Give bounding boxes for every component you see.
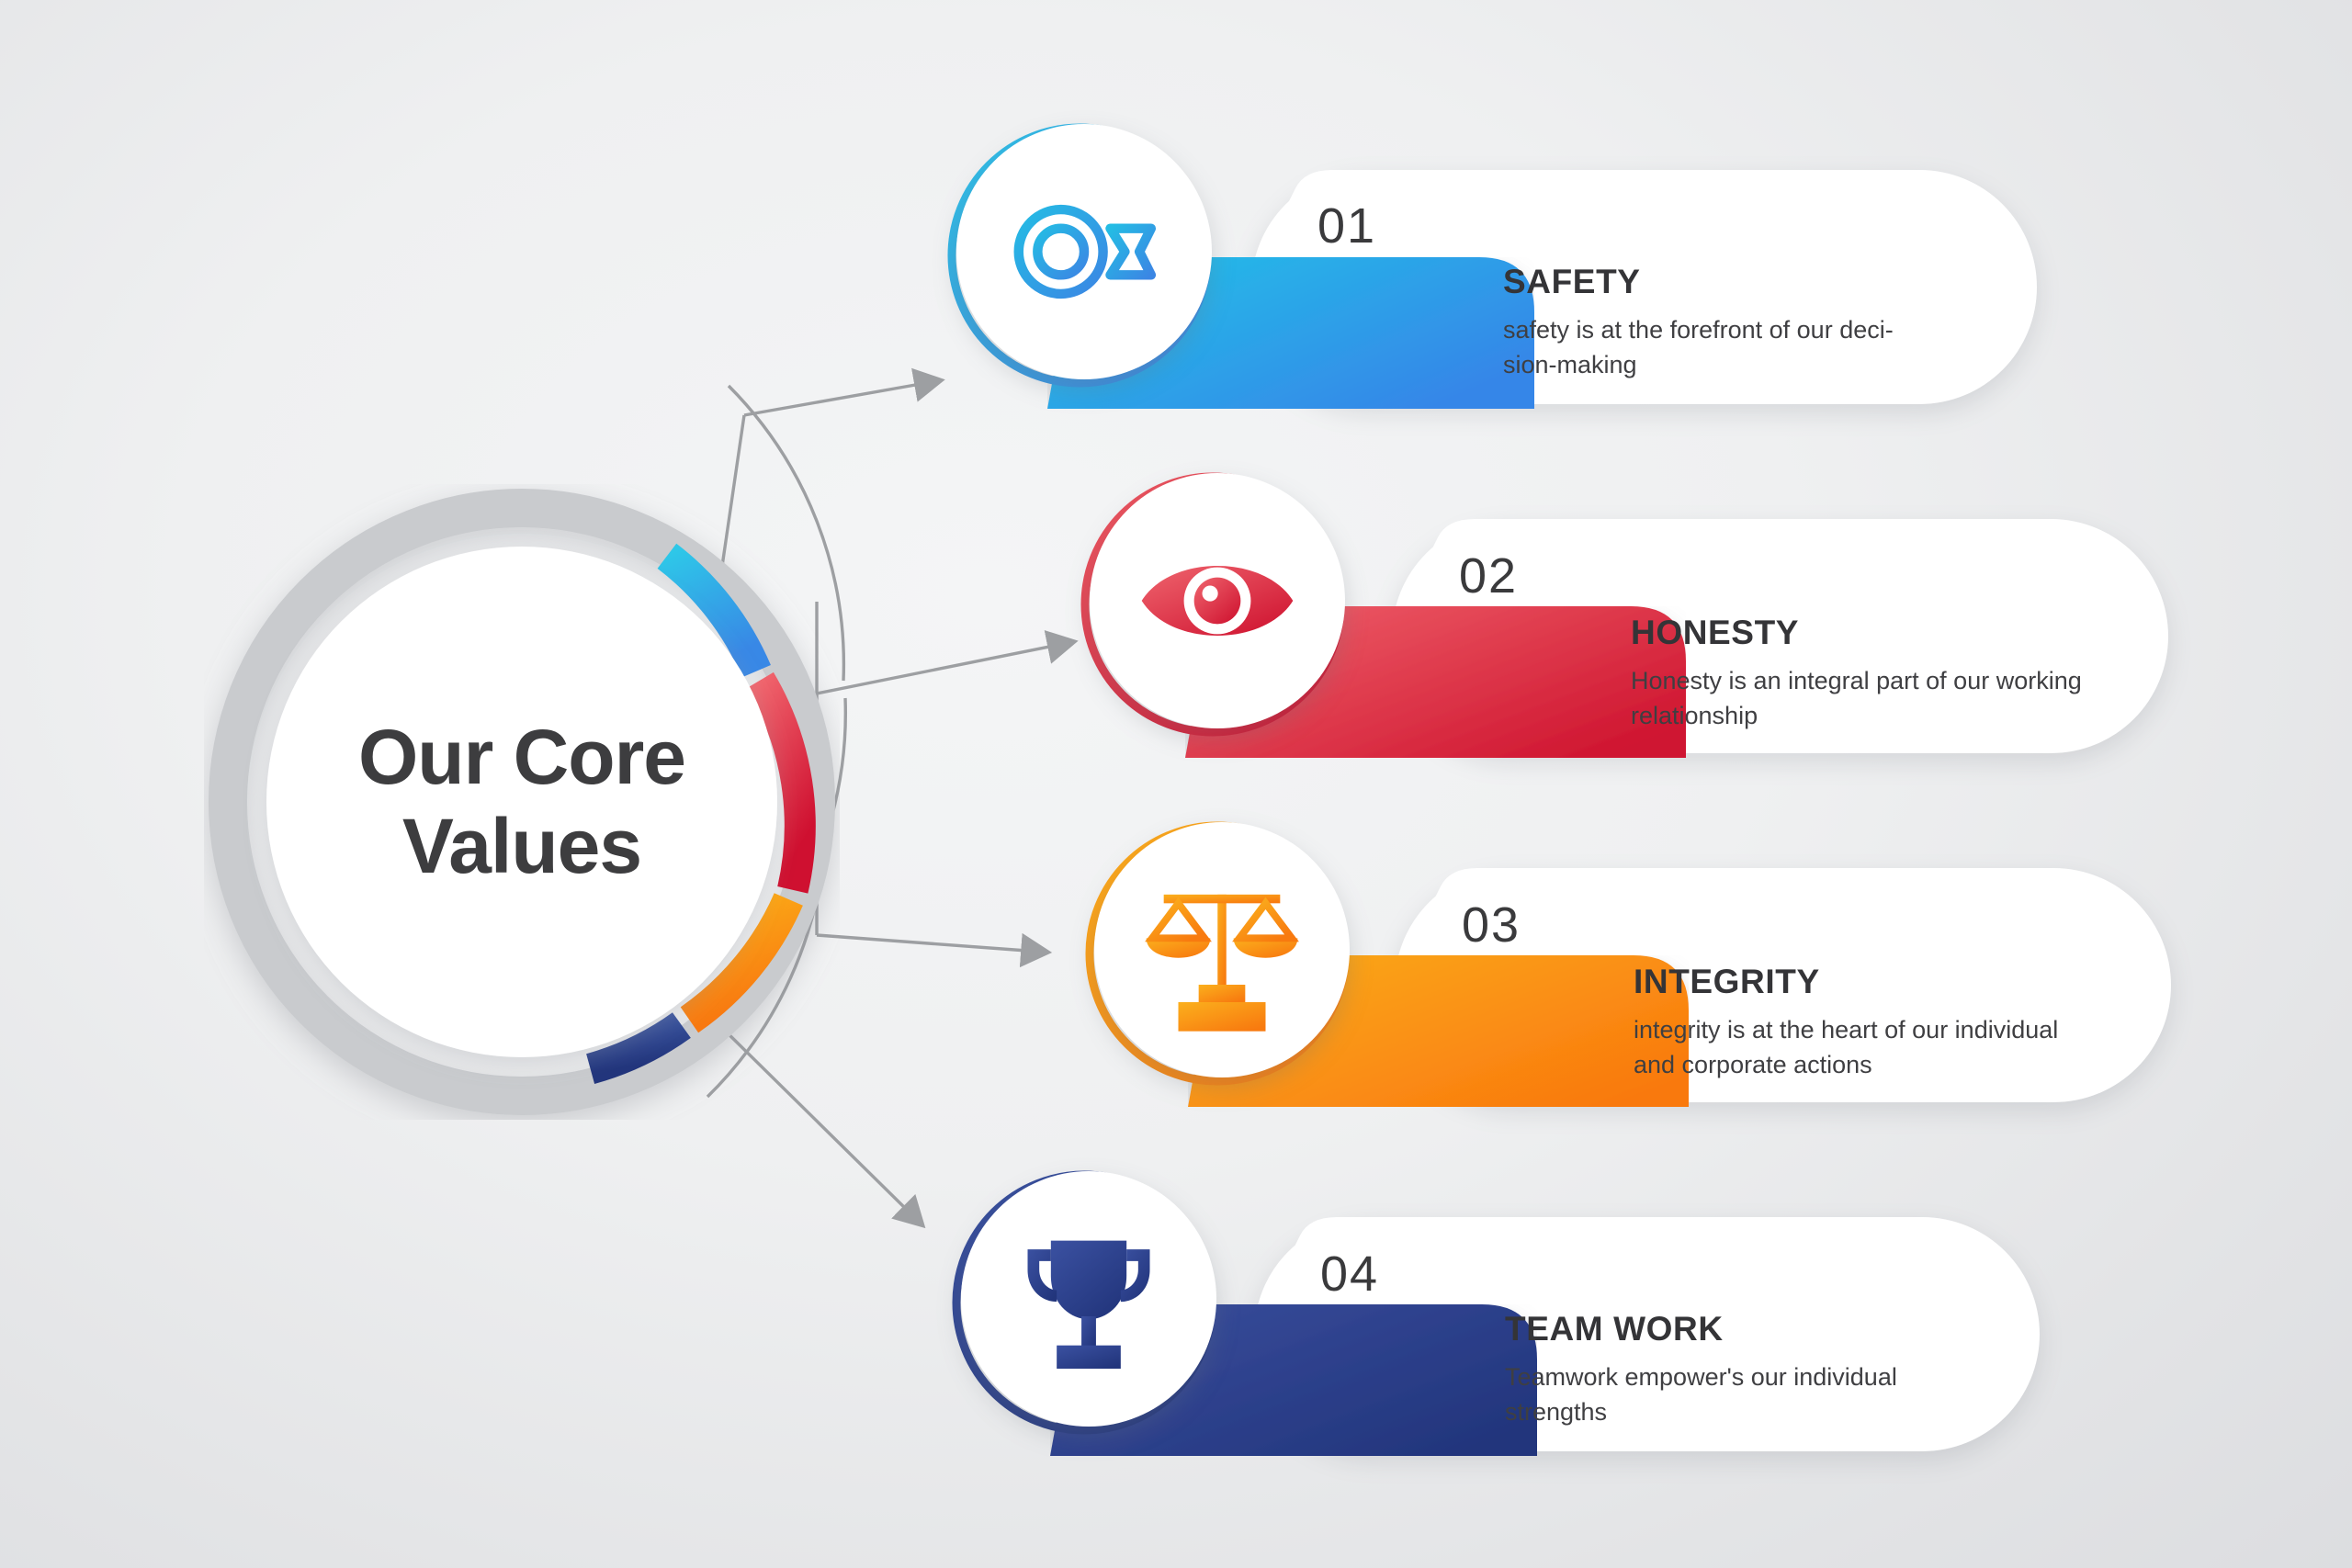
- card-number-04: 04: [1320, 1246, 1379, 1303]
- card-desc-02-line2: relationship: [1631, 698, 2219, 733]
- card-desc-01-line2: sion-making: [1503, 347, 2091, 382]
- card-title-03: INTEGRITY: [1634, 963, 1820, 1001]
- connector-03: [817, 845, 1027, 951]
- icon-circle-03[interactable]: [1094, 822, 1350, 1077]
- target-arrow-icon: [997, 164, 1171, 339]
- card-title-02: HONESTY: [1631, 614, 1799, 652]
- card-desc-03-line1: integrity is at the heart of our individ…: [1634, 1012, 2222, 1047]
- card-number-03: 03: [1462, 897, 1521, 953]
- card-number-01: 01: [1317, 197, 1376, 254]
- card-desc-04-line2: strengths: [1505, 1394, 2093, 1429]
- eye-icon: [1130, 513, 1305, 688]
- card-desc-02-line1: Honesty is an integral part of our worki…: [1631, 663, 2219, 698]
- card-desc-01: safety is at the forefront of our deci- …: [1503, 312, 2091, 383]
- card-desc-03-line2: and corporate actions: [1634, 1047, 2222, 1082]
- card-desc-01-line1: safety is at the forefront of our deci-: [1503, 312, 2091, 347]
- icon-circle-02[interactable]: [1090, 473, 1345, 728]
- card-desc-02: Honesty is an integral part of our worki…: [1631, 663, 2219, 734]
- icon-circle-04[interactable]: [961, 1171, 1216, 1427]
- infographic-canvas: Our Core Values: [0, 0, 2352, 1568]
- card-desc-04-line1: Teamwork empower's our individual: [1505, 1359, 2093, 1394]
- card-desc-04: Teamwork empower's our individual streng…: [1505, 1359, 2093, 1430]
- card-number-02: 02: [1459, 547, 1518, 604]
- icon-circle-01[interactable]: [956, 124, 1212, 379]
- trophy-icon: [1001, 1212, 1176, 1386]
- center-circle: Our Core Values: [204, 484, 840, 1120]
- connector-02: [817, 602, 1054, 712]
- card-desc-03: integrity is at the heart of our individ…: [1634, 1012, 2222, 1083]
- card-title-04: TEAM WORK: [1505, 1310, 1724, 1348]
- center-donut: [204, 484, 840, 1120]
- balance-scales-icon: [1135, 863, 1309, 1037]
- card-title-01: SAFETY: [1503, 263, 1641, 301]
